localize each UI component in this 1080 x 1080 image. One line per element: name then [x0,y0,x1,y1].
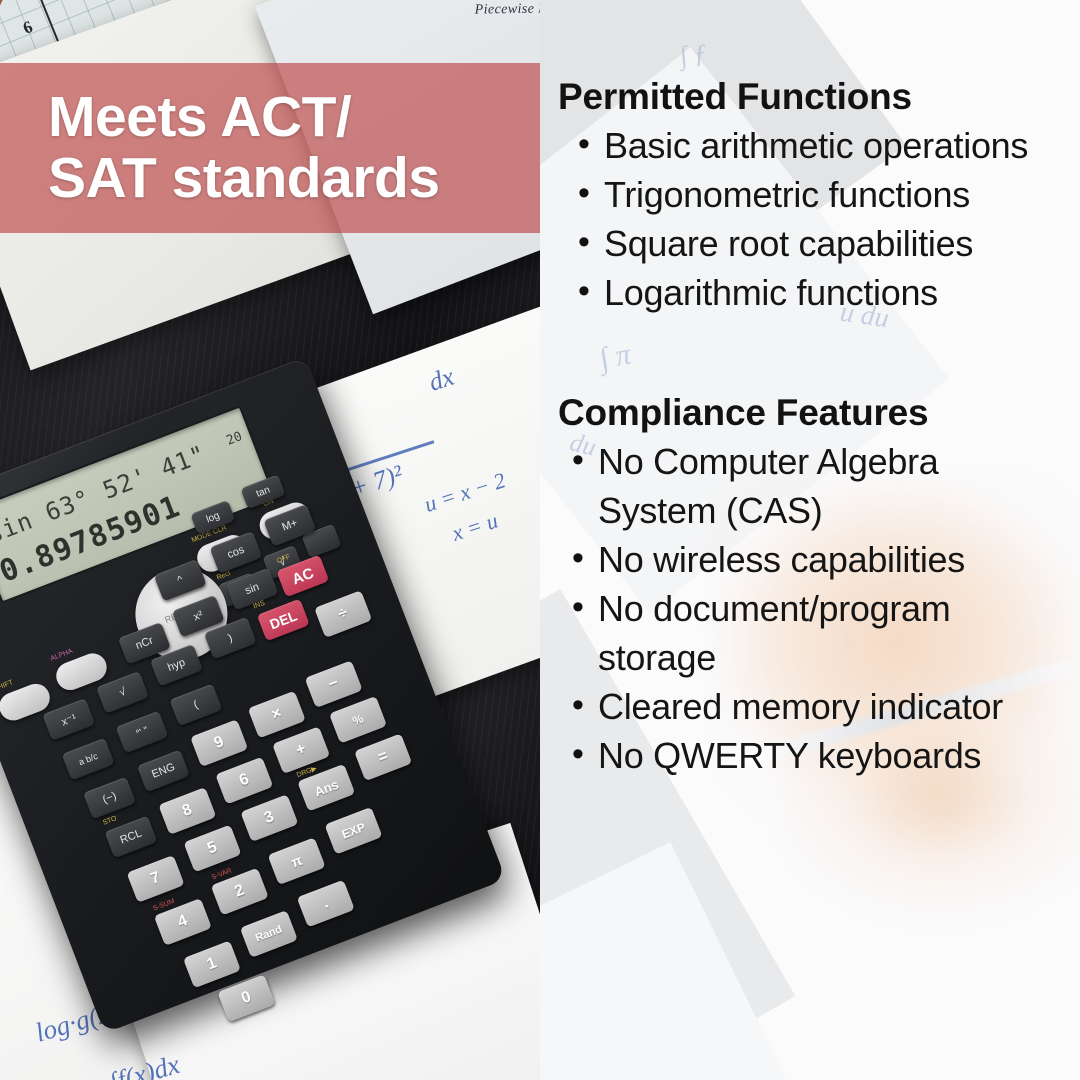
key-6[interactable]: 6 [215,757,273,805]
eng-key[interactable]: ENG [137,750,190,793]
poster-root: 8 6 4 x Piecewise Functions Less. 1-3 3x… [0,0,1080,1080]
key-8[interactable]: 8 [158,787,216,835]
headline-text: Meets ACT/ SAT standards [0,87,440,209]
label-sto: STO [102,815,118,827]
handwriting-substitution-x: x = u [449,508,501,547]
list-item: No Computer Algebra System (CAS) [558,438,1066,536]
pi-key[interactable]: π [268,837,326,885]
compliance-features-list: No Computer Algebra System (CAS) No wire… [558,438,1066,781]
section-heading-permitted: Permitted Functions [558,76,1066,118]
list-item: Basic arithmetic operations [558,122,1066,171]
rand-key[interactable]: Rand [240,910,298,958]
handwriting-dx: dx [425,362,458,398]
divide-key[interactable]: ÷ [314,590,372,638]
headline-banner: Meets ACT/ SAT standards [0,63,540,233]
equals-key[interactable]: = [354,733,412,781]
plus-key[interactable]: + [272,726,330,774]
x-inverse-key[interactable]: x⁻¹ [42,698,95,741]
features-content: Permitted Functions Basic arithmetic ope… [540,0,1080,780]
percent-key[interactable]: % [329,696,387,744]
list-item: No wireless capabilities [558,536,1066,585]
list-item: No QWERTY keyboards [558,732,1066,781]
key-7[interactable]: 7 [127,855,185,903]
key-3[interactable]: 3 [240,794,298,842]
features-text-panel: ∫ ƒ u du ∫ π du Permitted Functions Basi… [540,0,1080,1080]
root-x-key[interactable]: √ [96,671,149,714]
decimal-point-key[interactable]: . [297,880,355,928]
cos-key[interactable]: cos [209,531,262,574]
section-heading-compliance: Compliance Features [558,392,1066,434]
open-paren-key[interactable]: ( [169,684,222,727]
lcd-exponent: 20 [224,429,244,449]
headline-line-1: Meets ACT/ [48,87,440,148]
list-item: Cleared memory indicator [558,683,1066,732]
list-item: Logarithmic functions [558,269,1066,318]
note-label-piecewise: Piecewise Functions [475,1,540,19]
key-5[interactable]: 5 [183,825,241,873]
dms-key[interactable]: °' " [116,711,169,754]
negative-key[interactable]: (−) [83,777,136,820]
headline-line-2: SAT standards [48,148,440,209]
calculator-photo-panel: 8 6 4 x Piecewise Functions Less. 1-3 3x… [0,0,540,1080]
exp-key[interactable]: EXP [324,807,382,855]
minus-key[interactable]: − [305,660,363,708]
list-item: Square root capabilities [558,220,1066,269]
key-9[interactable]: 9 [190,719,248,767]
list-item: Trigonometric functions [558,171,1066,220]
multiply-key[interactable]: × [248,691,306,739]
key-1[interactable]: 1 [183,940,241,988]
list-item: No document/program storage [558,585,1066,683]
permitted-functions-list: Basic arithmetic operations Trigonometri… [558,122,1066,318]
handwriting-substitution-u: u = x − 2 [421,467,508,518]
a-b-c-key[interactable]: a b/c [62,738,115,781]
